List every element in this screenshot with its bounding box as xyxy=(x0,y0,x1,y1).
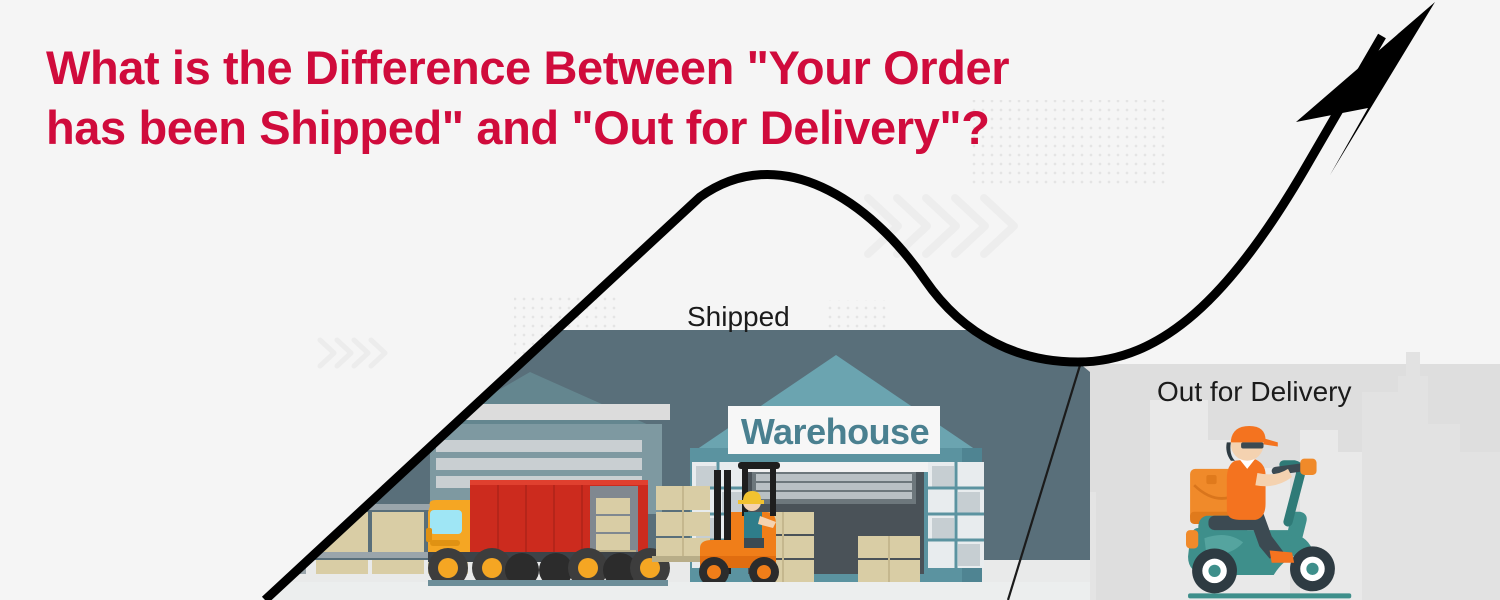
banner-root: What is the Difference Between "Your Ord… xyxy=(0,0,1500,600)
dots-top-right xyxy=(968,100,1168,188)
stage-label-out-for-delivery: Out for Delivery xyxy=(1157,376,1352,408)
stage-label-shipped: Shipped xyxy=(687,301,790,333)
illustration-scene xyxy=(0,0,1500,600)
warehouse-window-right xyxy=(928,462,984,568)
